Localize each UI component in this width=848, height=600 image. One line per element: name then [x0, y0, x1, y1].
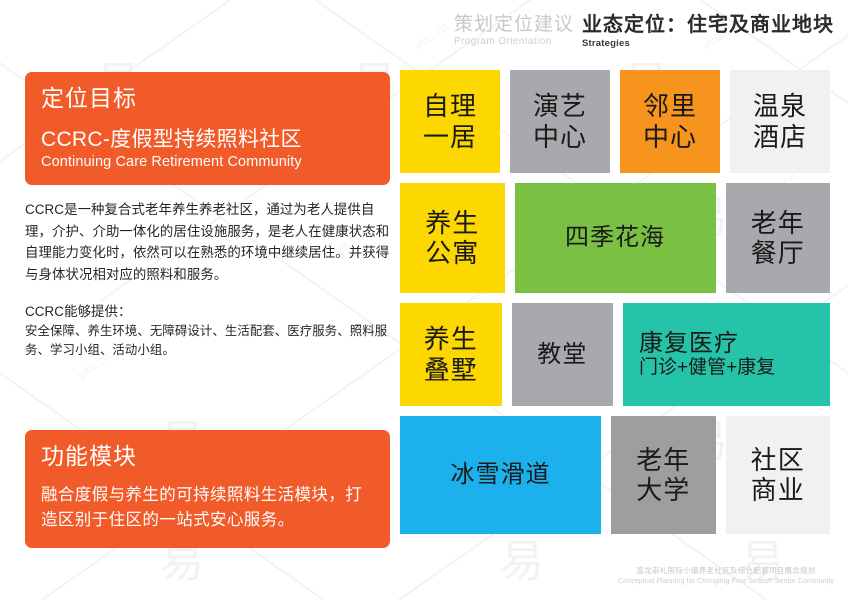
header-section-en: Program Orientation [454, 36, 574, 48]
program-tile[interactable]: 老年 大学 [611, 416, 716, 534]
header-section-label: 策划定位建议 Program Orientation [454, 14, 574, 48]
footer-project-cn: 富龙崇礼国际小镇养老社区及综合配套项目概念规划 [618, 566, 834, 576]
program-tile-label: 教堂 [537, 341, 587, 369]
slide-header: 策划定位建议 Program Orientation 业态定位：住宅及商业地块 … [454, 14, 834, 50]
function-module-panel: 功能模块 融合度假与养生的可持续照料生活模块，打造区别于住区的一站式安心服务。 [25, 430, 390, 548]
module-panel-body: 融合度假与养生的可持续照料生活模块，打造区别于住区的一站式安心服务。 [41, 483, 374, 533]
program-tile[interactable]: 演艺 中心 [510, 70, 610, 173]
program-tile-label: 康复医疗门诊+健管+康复 [639, 330, 775, 380]
header-section-cn: 策划定位建议 [454, 14, 574, 35]
footer-project-en: Conceptual Planning for Chongling Four S… [618, 577, 834, 586]
program-tile-grid: 自理 一居演艺 中心邻里 中心温泉 酒店养生 公寓四季花海老年 餐厅养生 叠墅教… [400, 70, 830, 544]
tile-row: 养生 公寓四季花海老年 餐厅 [400, 183, 830, 293]
program-tile-label: 老年 大学 [636, 445, 690, 505]
program-tile-label: 邻里 中心 [643, 91, 697, 151]
watermark-glyph: 易 [500, 540, 544, 584]
program-tile-label: 老年 餐厅 [751, 208, 805, 268]
program-tile-sublabel: 门诊+健管+康复 [639, 357, 775, 379]
ccrc-offer-list: 安全保障、养生环境、无障碍设计、生活配套、医疗服务、照料服务、学习小组、活动小组… [25, 322, 390, 360]
ccrc-description-paragraph: CCRC是一种复合式老年养生养老社区，通过为老人提供自理，介护、介助一体化的居住… [25, 199, 390, 286]
program-tile-label: 养生 公寓 [425, 208, 479, 268]
program-tile[interactable]: 社区 商业 [726, 416, 831, 534]
ccrc-offer-heading: CCRC能够提供： [25, 302, 390, 322]
program-tile-label: 社区 商业 [751, 445, 805, 505]
program-tile[interactable]: 冰雪滑道 [400, 416, 601, 534]
program-tile[interactable]: 养生 叠墅 [400, 303, 502, 406]
header-topic-label: 业态定位：住宅及商业地块 Strategies [582, 14, 834, 50]
program-tile-label: 养生 叠墅 [424, 324, 478, 384]
program-tile-label: 冰雪滑道 [451, 461, 551, 489]
module-panel-title: 功能模块 [41, 442, 374, 471]
ccrc-description: CCRC是一种复合式老年养生养老社区，通过为老人提供自理，介护、介助一体化的居住… [25, 199, 390, 360]
slide-canvas: 易 易 易 易 易 易 易 易 易 易 易 yitu.cn yitu.cn yi… [0, 0, 848, 600]
tile-row: 自理 一居演艺 中心邻里 中心温泉 酒店 [400, 70, 830, 173]
program-tile[interactable]: 四季花海 [515, 183, 716, 293]
positioning-subtitle-en: Continuing Care Retirement Community [41, 153, 374, 171]
paragraph-spacer [25, 286, 390, 302]
program-tile[interactable]: 养生 公寓 [400, 183, 505, 293]
program-tile-label: 演艺 中心 [533, 91, 587, 151]
program-tile-label: 温泉 酒店 [753, 91, 807, 151]
program-tile[interactable]: 康复医疗门诊+健管+康复 [623, 303, 830, 406]
program-tile[interactable]: 温泉 酒店 [730, 70, 830, 173]
header-topic-en: Strategies [582, 38, 834, 49]
positioning-panel-title: 定位目标 [41, 84, 374, 113]
program-tile[interactable]: 教堂 [512, 303, 614, 406]
program-tile[interactable]: 邻里 中心 [620, 70, 720, 173]
program-tile[interactable]: 老年 餐厅 [726, 183, 831, 293]
positioning-goal-panel: 定位目标 CCRC-度假型持续照料社区 Continuing Care Reti… [25, 72, 390, 185]
tile-row: 冰雪滑道老年 大学社区 商业 [400, 416, 830, 534]
tile-row: 养生 叠墅教堂康复医疗门诊+健管+康复 [400, 303, 830, 406]
program-tile-label: 四季花海 [565, 224, 665, 252]
slide-footer: 富龙崇礼国际小镇养老社区及综合配套项目概念规划 Conceptual Plann… [618, 566, 834, 586]
header-topic-cn: 业态定位：住宅及商业地块 [582, 14, 834, 36]
program-tile[interactable]: 自理 一居 [400, 70, 500, 173]
positioning-subtitle-cn: CCRC-度假型持续照料社区 [41, 127, 374, 152]
left-content-column: 定位目标 CCRC-度假型持续照料社区 Continuing Care Reti… [25, 72, 390, 360]
program-tile-label: 自理 一居 [423, 91, 477, 151]
watermark-text: yitu.cn [412, 18, 451, 52]
